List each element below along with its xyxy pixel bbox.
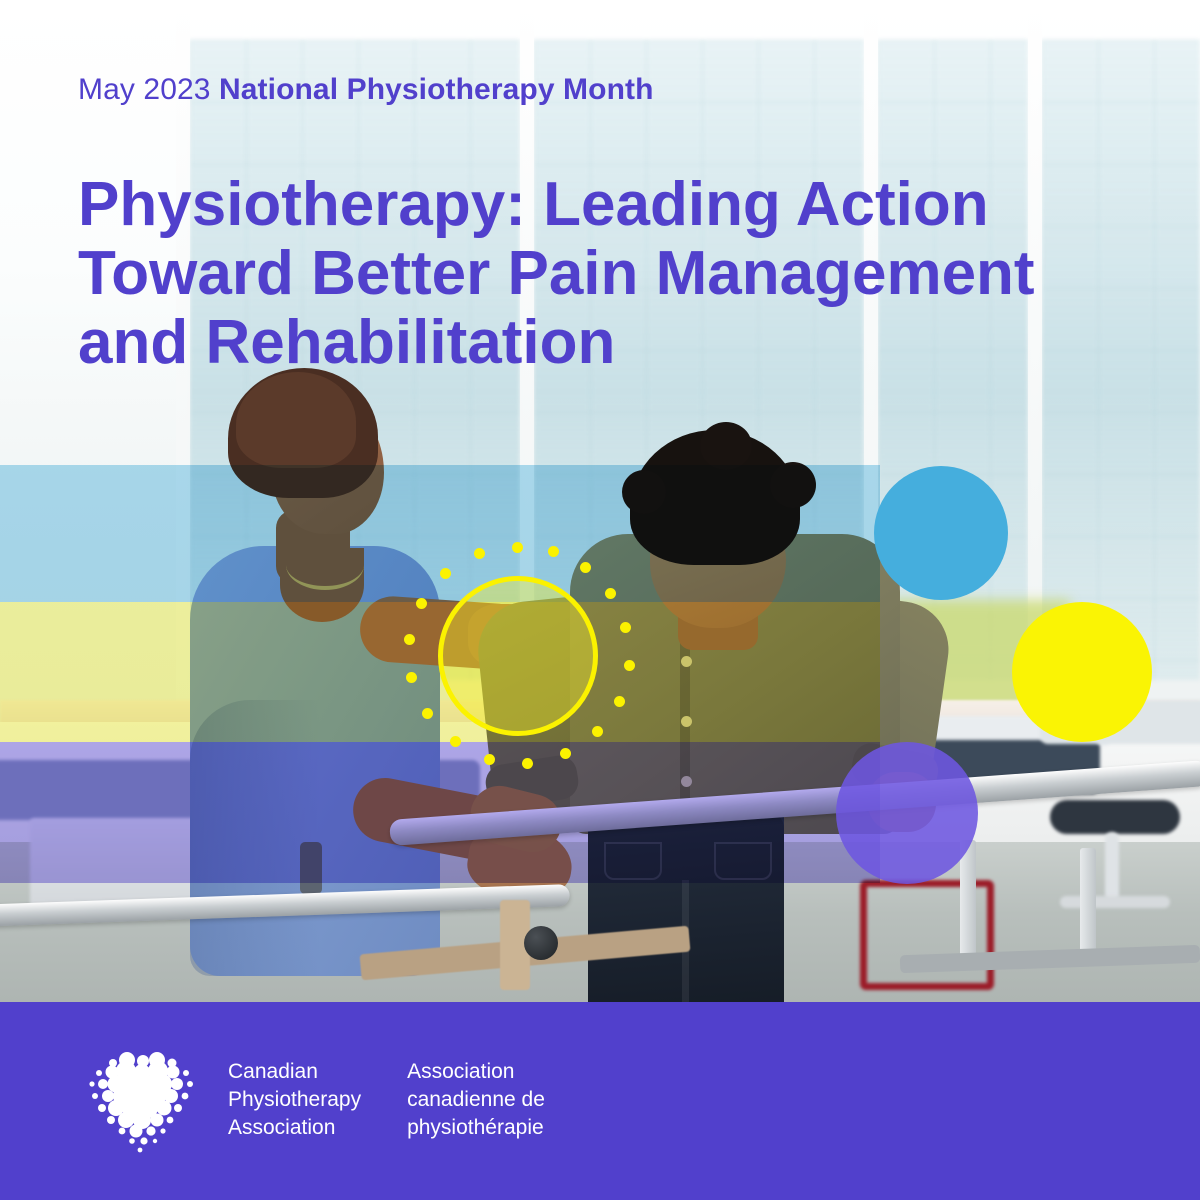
heart-dots-logo-icon (82, 1040, 202, 1160)
clinic-stool-post (1105, 832, 1119, 902)
halo-dot (605, 588, 616, 599)
blue-circle-shape (874, 466, 1008, 600)
halo-dot (440, 568, 451, 579)
halo-dot (522, 758, 533, 769)
patient-jeans-pocket (714, 842, 772, 880)
therapist-necklace (286, 540, 364, 590)
halo-dot (580, 562, 591, 573)
eyebrow-date: May 2023 (78, 73, 211, 106)
patient-hair-curl (622, 470, 666, 514)
highlight-ring-icon (438, 576, 598, 736)
halo-dot (624, 660, 635, 671)
patient-hair-curl (770, 462, 816, 508)
patient-shirt-button (681, 656, 692, 667)
logo-text-english: Canadian Physiotherapy Association (228, 1058, 361, 1141)
halo-dot (620, 622, 631, 633)
halo-dot (416, 598, 427, 609)
halo-dot (592, 726, 603, 737)
yellow-circle-shape (1012, 602, 1152, 742)
halo-dot (406, 672, 417, 683)
halo-dot (512, 542, 523, 553)
logo-text-french: Association canadienne de physiothérapie (407, 1058, 545, 1141)
halo-dot (404, 634, 415, 645)
eyebrow-campaign: National Physiotherapy Month (219, 73, 654, 106)
parallel-bar-adjust-knob (524, 926, 558, 960)
eyebrow-text: May 2023 National Physiotherapy Month (78, 73, 654, 107)
poster-canvas: May 2023 National Physiotherapy Month Ph… (0, 0, 1200, 1200)
halo-dot (474, 548, 485, 559)
therapist-scrub-shadow (190, 700, 320, 976)
page-title: Physiotherapy: Leading Action Toward Bet… (78, 170, 1138, 378)
halo-dot (484, 754, 495, 765)
clinic-stool-base (1060, 896, 1170, 908)
footer-bar: Canadian Physiotherapy Association Assoc… (0, 1002, 1200, 1200)
clinic-stool-seat (1050, 800, 1180, 834)
patient-shirt-button (681, 776, 692, 787)
halo-dot (614, 696, 625, 707)
therapist-hair-highlight (236, 372, 356, 468)
halo-dot (422, 708, 433, 719)
halo-dot (560, 748, 571, 759)
patient-shirt-button (681, 716, 692, 727)
therapist-badge-clip (300, 842, 322, 894)
headline-lede: Physiotherapy: (78, 170, 526, 239)
parallel-bar-post (960, 840, 976, 960)
logo-wordmark: Canadian Physiotherapy Association Assoc… (228, 1058, 545, 1141)
halo-dot (548, 546, 559, 557)
patient-jeans-pocket (604, 842, 662, 880)
logo-lockup[interactable]: Canadian Physiotherapy Association Assoc… (82, 1040, 545, 1160)
highlight-ring-group (438, 576, 598, 736)
hero-photo (0, 0, 1200, 1002)
purple-circle-shape (836, 742, 978, 884)
patient-hair-curl (700, 422, 752, 470)
halo-dot (450, 736, 461, 747)
